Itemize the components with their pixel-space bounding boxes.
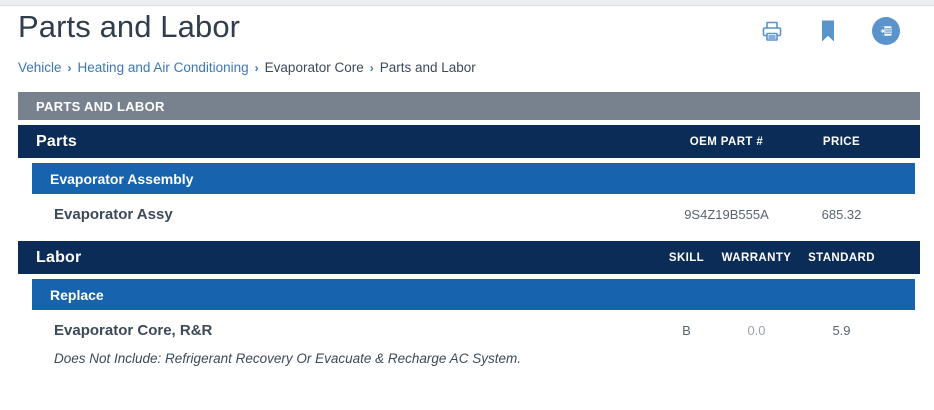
labor-operation-name: Evaporator Core, R&R <box>18 322 212 339</box>
section-header-label: PARTS AND LABOR <box>36 99 165 114</box>
parts-column-headers: OEM PART # PRICE <box>654 125 920 158</box>
page-content: Parts and Labor <box>0 7 934 55</box>
table-row-main: Evaporator Assy 9S4Z19B555A 685.32 <box>18 194 920 235</box>
table-row-main: Evaporator Core, R&R B 0.0 5.9 <box>18 310 920 351</box>
breadcrumb-item-parts-and-labor: Parts and Labor <box>380 60 476 75</box>
subgroup-header-label: Replace <box>50 287 104 303</box>
section-header-parts-and-labor: PARTS AND LABOR <box>18 92 920 120</box>
breadcrumb-item-heating-and-air-conditioning[interactable]: Heating and Air Conditioning <box>78 60 249 75</box>
column-header-skill: SKILL <box>659 252 714 264</box>
group-header-parts-label: Parts <box>36 133 77 151</box>
column-header-oem-part: OEM PART # <box>654 136 799 148</box>
parts-and-labor-table: PARTS AND LABOR Parts OEM PART # PRICE E… <box>0 92 934 373</box>
part-name: Evaporator Assy <box>18 206 173 223</box>
breadcrumb-item-evaporator-core[interactable]: Evaporator Core <box>265 60 364 75</box>
page-header: Parts and Labor <box>0 7 934 55</box>
column-header-standard: STANDARD <box>799 252 884 264</box>
subgroup-header-evaporator-assembly[interactable]: Evaporator Assembly <box>32 163 915 194</box>
column-header-price: PRICE <box>799 136 884 148</box>
browser-top-strip <box>0 0 934 6</box>
part-values: 9S4Z19B555A 685.32 <box>654 194 920 235</box>
breadcrumb-separator-icon: › <box>370 61 374 75</box>
labor-standard-time: 5.9 <box>799 323 884 338</box>
group-header-parts: Parts OEM PART # PRICE <box>18 125 920 158</box>
header-actions <box>760 17 900 45</box>
group-header-labor-label: Labor <box>36 249 81 267</box>
labor-values: B 0.0 5.9 <box>659 310 920 351</box>
bookmark-icon[interactable] <box>816 18 840 44</box>
part-oem-number: 9S4Z19B555A <box>654 207 799 222</box>
breadcrumb-item-vehicle[interactable]: Vehicle <box>18 60 62 75</box>
subgroup-header-label: Evaporator Assembly <box>50 171 193 187</box>
table-row[interactable]: Evaporator Assy 9S4Z19B555A 685.32 <box>18 194 920 236</box>
group-header-labor: Labor SKILL WARRANTY STANDARD <box>18 241 920 274</box>
table-row[interactable]: Evaporator Core, R&R B 0.0 5.9 Does Not … <box>18 310 920 373</box>
labor-column-headers: SKILL WARRANTY STANDARD <box>659 241 920 274</box>
column-header-warranty: WARRANTY <box>714 252 799 264</box>
breadcrumb: Vehicle › Heating and Air Conditioning ›… <box>18 60 476 75</box>
breadcrumb-separator-icon: › <box>68 61 72 75</box>
labor-note: Does Not Include: Refrigerant Recovery O… <box>18 351 920 372</box>
page-title: Parts and Labor <box>18 9 240 45</box>
labor-warranty-time: 0.0 <box>714 323 799 338</box>
part-price: 685.32 <box>799 207 884 222</box>
breadcrumb-separator-icon: › <box>255 61 259 75</box>
labor-skill: B <box>659 323 714 338</box>
subgroup-header-replace[interactable]: Replace <box>32 279 915 310</box>
print-icon[interactable] <box>760 19 784 43</box>
notes-icon[interactable] <box>872 17 900 45</box>
